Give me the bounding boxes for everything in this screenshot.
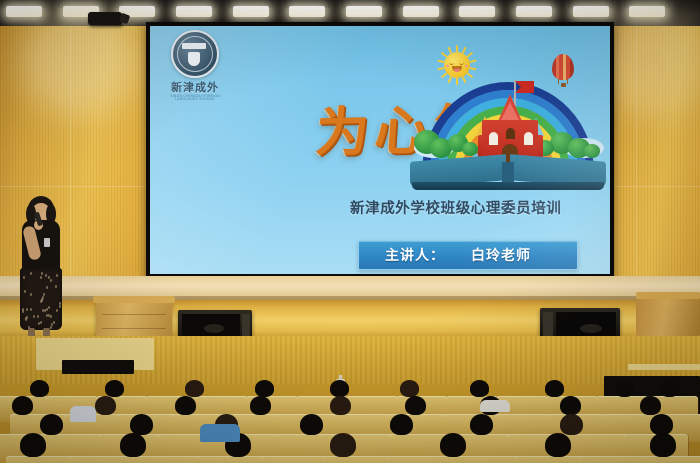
audience-member bbox=[175, 396, 196, 415]
school-logo-name: 新津成外 bbox=[162, 79, 228, 95]
audience-member bbox=[640, 396, 661, 415]
audience-member bbox=[20, 433, 46, 457]
audience-member bbox=[255, 380, 274, 397]
wooden-riser bbox=[636, 296, 700, 336]
auditorium-seat bbox=[579, 456, 651, 463]
audience-member bbox=[250, 396, 271, 415]
slide-illustration bbox=[408, 34, 608, 234]
audience-member bbox=[560, 414, 583, 435]
projection-screen: 新津成外 XINJIN CHENGDU FOREIGN LANGUAGES SC… bbox=[150, 26, 610, 274]
audience-member bbox=[130, 414, 153, 435]
flag-icon bbox=[515, 81, 534, 93]
audience-member bbox=[390, 414, 413, 435]
audience-member bbox=[650, 414, 673, 435]
audience-member bbox=[30, 380, 49, 397]
audience-member bbox=[650, 433, 676, 457]
audience-member bbox=[40, 414, 63, 435]
auditorium-seat bbox=[197, 456, 269, 463]
audience-member-shirt bbox=[480, 400, 510, 412]
auditorium-seat bbox=[133, 456, 205, 463]
ceiling-light bbox=[176, 6, 212, 17]
audience-member bbox=[330, 433, 356, 457]
audience-member-shirt bbox=[70, 406, 96, 422]
auditorium-seat bbox=[642, 456, 700, 463]
audience-member bbox=[105, 380, 124, 397]
spotlight-fixture bbox=[88, 12, 122, 25]
ceiling-light bbox=[516, 6, 552, 17]
ceiling-light bbox=[403, 6, 439, 17]
auditorium-seat bbox=[451, 456, 523, 463]
audience-member bbox=[545, 380, 564, 397]
audience-member bbox=[120, 433, 146, 457]
audience-member bbox=[470, 380, 489, 397]
speaker-banner: 主讲人： 白玲老师 bbox=[358, 240, 578, 270]
auditorium-seat bbox=[6, 456, 78, 463]
smiling-sun-icon bbox=[444, 52, 470, 78]
ceiling-light bbox=[629, 6, 665, 17]
audience-area bbox=[0, 336, 700, 463]
audience-member bbox=[405, 396, 426, 415]
speaker-name: 白玲老师 bbox=[471, 245, 531, 265]
audience-member bbox=[560, 396, 581, 415]
ceiling-light bbox=[289, 6, 325, 17]
audience-member bbox=[400, 380, 419, 397]
open-book-icon bbox=[410, 158, 606, 194]
audience-member bbox=[12, 396, 33, 415]
auditorium-photo: 新津成外 XINJIN CHENGDU FOREIGN LANGUAGES SC… bbox=[0, 0, 700, 463]
auditorium-seat bbox=[70, 456, 142, 463]
audience-member bbox=[330, 396, 351, 415]
speaker-label: 主讲人： bbox=[385, 245, 445, 265]
ceiling-light bbox=[346, 6, 382, 17]
ceiling-light bbox=[6, 6, 42, 17]
auditorium-seat bbox=[388, 456, 460, 463]
audience-member bbox=[660, 380, 679, 397]
presenter bbox=[14, 196, 68, 346]
auditorium-seat bbox=[515, 456, 587, 463]
auditorium-seat bbox=[261, 456, 333, 463]
ceiling-light bbox=[573, 6, 609, 17]
audience-member bbox=[95, 396, 116, 415]
audience-member bbox=[185, 380, 204, 397]
audience-member bbox=[300, 414, 323, 435]
audience-member bbox=[330, 380, 349, 397]
ceiling-light bbox=[459, 6, 495, 17]
tree-icon bbox=[584, 144, 600, 158]
school-logo: 新津成外 XINJIN CHENGDU FOREIGN LANGUAGES SC… bbox=[162, 30, 228, 102]
school-crest-icon bbox=[171, 30, 219, 78]
audience-member-shirt bbox=[200, 424, 240, 442]
school-logo-subtitle: XINJIN CHENGDU FOREIGN LANGUAGES SCHOOL bbox=[162, 95, 228, 102]
audience-member bbox=[545, 433, 571, 457]
audience-member bbox=[440, 433, 466, 457]
audience-member bbox=[470, 414, 493, 435]
audience-member bbox=[615, 380, 634, 397]
auditorium-seat bbox=[324, 456, 396, 463]
ceiling-light bbox=[233, 6, 269, 17]
